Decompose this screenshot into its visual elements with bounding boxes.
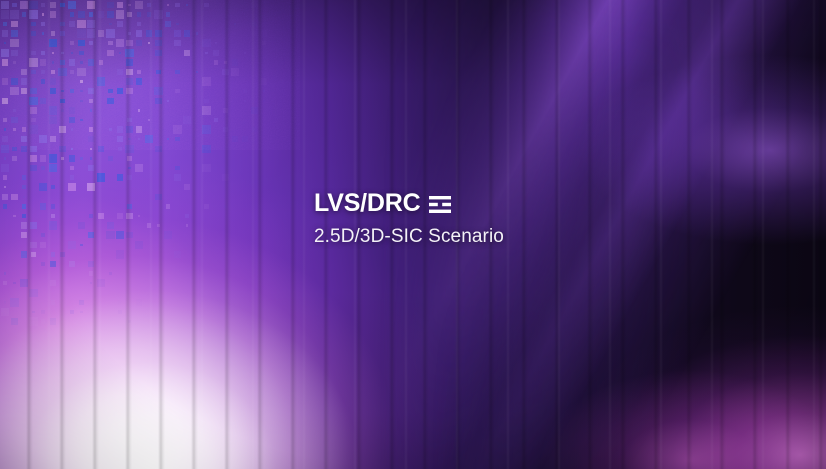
mosaic-cell [204,204,208,208]
mosaic-cell [154,87,162,95]
mosaic-cell [12,147,16,151]
mosaic-cell [126,88,133,95]
mosaic-cell [50,318,57,325]
mosaic-cell [147,12,151,16]
mosaic-cell [292,311,295,314]
mosaic-cell [11,21,18,28]
mosaic-cell [167,138,170,141]
mosaic-cell [109,272,112,275]
mosaic-cell [21,88,28,95]
mosaic-cell [184,30,191,37]
mosaic-cell [31,118,35,122]
mosaic-cell [88,88,95,95]
mosaic-cell [90,148,93,151]
mosaic-cell [1,1,9,9]
mosaic-cell [224,61,227,64]
mosaic-cell [155,98,162,105]
mosaic-cell [126,213,133,220]
mosaic-cell [4,186,7,189]
mosaic-cell [213,50,220,57]
mosaic-cell [244,100,247,103]
mosaic-cell [290,40,297,47]
mosaic-cell [117,2,124,9]
mosaic-cell [234,23,237,26]
mosaic-cell [4,301,7,304]
mosaic-cell [261,30,268,37]
mosaic-cell [21,136,28,143]
mosaic-cell [204,3,208,7]
mosaic-cell [50,11,57,18]
mosaic-cell [251,2,258,9]
mosaic-cell [40,242,47,249]
mosaic-cell [231,68,239,76]
mosaic-cell [290,280,297,287]
mosaic-cell [202,164,210,172]
mosaic-cell [108,156,112,160]
mosaic-cell [202,125,210,133]
mosaic-cell [49,116,57,124]
mosaic-cell [80,311,83,314]
mosaic-cell [87,1,95,9]
mosaic-cell [88,232,95,239]
mosaic-cell [175,70,179,74]
mosaic-cell [41,262,45,266]
mosaic-cell [13,215,16,218]
mosaic-cell [70,310,74,314]
mosaic-cell [138,215,141,218]
mosaic-cell [155,30,162,37]
mosaic-cell [87,20,95,28]
mosaic-cell [270,107,277,114]
mosaic-cell [155,50,162,57]
mosaic-cell [184,50,191,57]
page-subtitle: 2.5D/3D-SIC Scenario [314,226,504,249]
mosaic-cell [79,300,83,304]
mosaic-cell [117,174,124,181]
mosaic-cell [22,127,26,131]
mosaic-cell [301,4,304,7]
mosaic-cell [251,107,258,114]
mosaic-cell [20,279,28,287]
mosaic-cell [116,231,124,239]
mosaic-cell [214,118,218,122]
mosaic-cell [117,213,124,220]
mosaic-cell [1,10,9,18]
mosaic-cell [119,52,122,55]
mosaic-cell [11,50,18,57]
mosaic-cell [4,157,7,160]
mosaic-cell [30,242,37,249]
mosaic-cell [128,32,131,35]
mosaic-cell [89,271,93,275]
mosaic-cell [261,78,268,85]
mosaic-cell [29,97,37,105]
mosaic-cell [41,233,45,237]
mosaic-cell [11,194,18,201]
mosaic-cell [49,221,57,229]
mosaic-cell [243,89,247,93]
mosaic-cell [41,166,45,170]
mosaic-cell [155,146,162,153]
mosaic-cell [80,244,83,247]
mosaic-cell [68,183,76,191]
mosaic-cell [99,60,103,64]
mosaic-cell [69,21,76,28]
mosaic-cell [71,52,74,55]
mosaic-cell [68,1,76,9]
mosaic-cell [214,60,218,64]
mosaic-cell [126,78,133,85]
mosaic-cell [60,22,64,26]
mosaic-cell [3,175,7,179]
mosaic-cell [70,70,74,74]
mosaic-cell [50,261,57,268]
mosaic-cell [148,119,151,122]
mosaic-cell [78,40,85,47]
mosaic-cell [31,31,35,35]
mosaic-cell [2,78,9,85]
mosaic-cell [21,146,28,153]
mosaic-cell [71,148,74,151]
mosaic-cell [29,58,37,66]
mosaic-cell [61,52,64,55]
mosaic-cell [116,250,124,258]
mosaic-cell [29,1,37,9]
mosaic-cell [137,12,141,16]
mosaic-cell [186,4,189,7]
mosaic-cell [59,126,66,133]
mosaic-cell [21,222,28,229]
mosaic-cell [10,10,18,18]
mosaic-cell [51,185,55,189]
mosaic-cell [88,165,95,172]
mosaic-cell [11,78,18,85]
mosaic-cell [29,317,37,325]
mosaic-cell [196,71,199,74]
mosaic-cell [136,126,143,133]
mosaic-cell [137,22,141,26]
mosaic-cell [202,106,210,114]
mosaic-cell [137,70,141,74]
mosaic-cell [125,145,133,153]
mosaic-cell [12,3,16,7]
mosaic-cell [117,69,124,76]
mosaic-cell [165,21,172,28]
mosaic-cell [157,224,160,227]
mosaic-cell [50,136,57,143]
hero-banner: LVS/DRC 2.5D/3D-SIC Scenario [0,0,826,469]
mosaic-cell [127,204,131,208]
mosaic-cell [127,156,131,160]
trigram-bars-icon [429,196,451,213]
mosaic-cell [126,126,133,133]
mosaic-cell [183,116,191,124]
mosaic-cell [71,128,74,131]
mosaic-cell [59,146,66,153]
mosaic-cell [42,13,45,16]
mosaic-cell [300,70,304,74]
mosaic-cell [98,30,105,37]
mosaic-cell [262,41,266,45]
mosaic-cell [10,298,18,306]
mosaic-cell [4,128,7,131]
mosaic-cell [60,3,64,7]
mosaic-cell [11,117,18,124]
mosaic-cell [89,214,93,218]
mosaic-cell [40,98,47,105]
mosaic-cell [50,280,57,287]
mosaic-cell [68,241,76,249]
mosaic-cell [30,88,37,95]
mosaic-cell [39,135,47,143]
mosaic-cell [117,126,124,133]
mosaic-cell [108,89,112,93]
mosaic-cell [174,40,181,47]
mosaic-cell [290,136,297,143]
mosaic-cell [282,71,285,74]
mosaic-cell [127,175,131,179]
mosaic-cell [51,204,55,208]
mosaic-cell [300,166,304,170]
mosaic-cell [98,213,105,220]
mosaic-cell [40,203,47,210]
mosaic-cell [10,39,18,47]
mosaic-cell [290,21,297,28]
mosaic-cell [80,61,83,64]
mosaic-cell [70,175,74,179]
mosaic-cell [60,252,64,256]
mosaic-cell [164,231,172,239]
mosaic-cell [145,135,153,143]
mosaic-cell [174,251,181,258]
mosaic-cell [70,89,74,93]
mosaic-cell [4,42,7,45]
mosaic-cell [107,222,114,229]
mosaic-cell [175,89,179,93]
mosaic-cell [32,311,35,314]
mosaic-cell [202,39,210,47]
mosaic-cell [22,214,26,218]
mosaic-cell [196,32,199,35]
mosaic-cell [49,154,57,162]
mosaic-cell [97,279,105,287]
mosaic-cell [128,138,131,141]
mosaic-cell [108,41,112,45]
mosaic-cell [88,261,95,268]
mosaic-cell [106,231,114,239]
mosaic-cell [232,59,239,66]
mosaic-cell [106,29,114,37]
mosaic-cell [89,41,93,45]
mosaic-cell [61,109,64,112]
mosaic-cell [184,184,191,191]
mosaic-cell [77,20,85,28]
pixel-mosaic-pattern [0,0,300,330]
mosaic-cell [41,310,45,314]
mosaic-cell [155,40,162,47]
mosaic-cell [281,79,285,83]
mosaic-cell [90,109,93,112]
mosaic-cell [61,157,64,160]
mosaic-cell [80,157,83,160]
mosaic-cell [1,145,9,153]
mosaic-cell [2,98,9,105]
mosaic-cell [156,70,160,74]
mosaic-cell [252,31,256,35]
mosaic-cell [77,68,85,76]
mosaic-cell [51,252,55,256]
mosaic-cell [167,301,170,304]
mosaic-cell [11,318,18,325]
mosaic-cell [166,204,170,208]
mosaic-cell [12,156,16,160]
mosaic-cell [29,10,37,18]
mosaic-cell [69,59,76,66]
mosaic-cell [1,308,9,316]
mosaic-cell [50,88,57,95]
mosaic-cell [88,59,95,66]
mosaic-cell [13,61,16,64]
mosaic-cell [80,100,83,103]
mosaic-cell [10,87,18,95]
mosaic-cell [185,214,189,218]
mosaic-cell [118,300,122,304]
mosaic-cell [107,11,114,18]
mosaic-cell [29,125,37,133]
mosaic-cell [224,205,227,208]
mosaic-cell [136,40,143,47]
mosaic-cell [109,330,112,333]
mosaic-cell [125,49,133,57]
mosaic-cell [4,272,7,275]
mosaic-cell [50,2,57,9]
mosaic-cell [41,70,45,74]
mosaic-cell [2,59,9,66]
mosaic-cell [60,31,64,35]
mosaic-cell [109,23,112,26]
mosaic-cell [69,261,76,268]
mosaic-cell [21,232,28,239]
mosaic-cell [174,174,181,181]
mosaic-cell [60,60,64,64]
mosaic-cell [118,310,122,314]
mosaic-cell [126,40,133,47]
mosaic-cell [69,155,76,162]
mosaic-cell [3,118,7,122]
mosaic-cell [117,21,124,28]
mosaic-cell [176,23,179,26]
mosaic-cell [109,128,112,131]
mosaic-cell [41,3,45,7]
mosaic-cell [215,42,218,45]
mosaic-cell [167,100,170,103]
mosaic-cell [51,31,55,35]
mosaic-cell [31,51,35,55]
mosaic-cell [175,137,179,141]
mosaic-cell [223,108,227,112]
mosaic-cell [1,164,9,172]
mosaic-cell [80,80,83,83]
mosaic-cell [205,52,208,55]
mosaic-cell [21,251,28,258]
mosaic-cell [13,330,16,333]
title-row: LVS/DRC [314,190,504,216]
mosaic-cell [23,196,26,199]
mosaic-cell [61,90,64,93]
mosaic-cell [2,30,9,37]
mosaic-cell [147,223,151,227]
mosaic-cell [223,127,227,131]
mosaic-cell [22,12,26,16]
mosaic-cell [136,30,143,37]
mosaic-cell [89,12,93,16]
mosaic-cell [135,241,143,249]
mosaic-cell [116,10,124,18]
mosaic-cell [70,166,74,170]
mosaic-cell [30,107,37,114]
mosaic-cell [300,262,304,266]
mosaic-cell [118,147,122,151]
mosaic-cell [58,68,66,76]
mosaic-cell [136,78,143,85]
mosaic-cell [117,136,124,143]
mosaic-cell [22,175,26,179]
mosaic-cell [13,282,16,285]
mosaic-cell [50,78,57,85]
mosaic-cell [232,136,239,143]
mosaic-cell [128,4,131,7]
mosaic-cell [30,222,37,229]
mosaic-cell [135,1,143,9]
mosaic-cell [69,117,76,124]
mosaic-cell [41,51,45,55]
mosaic-cell [98,146,105,153]
mosaic-cell [252,127,256,131]
mosaic-cell [30,155,37,162]
mosaic-cell [40,59,47,66]
mosaic-cell [78,11,85,18]
mosaic-cell [61,320,64,323]
mosaic-cell [186,224,189,227]
mosaic-cell [155,194,162,201]
mosaic-cell [135,164,143,172]
mosaic-cell [3,204,7,208]
mosaic-cell [52,61,55,64]
film-grain [0,0,300,150]
mosaic-cell [13,128,16,131]
mosaic-cell [3,22,7,26]
mosaic-cell [148,42,151,45]
mosaic-cell [42,32,45,35]
mosaic-cell [30,146,37,153]
mosaic-cell [69,107,76,114]
mosaic-cell [89,127,93,131]
mosaic-cell [80,119,83,122]
mosaic-cell [97,173,105,181]
mosaic-cell [128,167,131,170]
mosaic-cell [70,41,74,45]
mosaic-cell [89,99,93,103]
mosaic-cell [22,185,26,189]
mosaic-cell [41,79,45,83]
mosaic-cell [51,300,55,304]
mosaic-cell [126,232,133,239]
mosaic-cell [31,252,35,256]
mosaic-cell [263,100,266,103]
mosaic-cell [244,52,247,55]
mosaic-cell [20,1,28,9]
mosaic-cell [252,22,256,26]
